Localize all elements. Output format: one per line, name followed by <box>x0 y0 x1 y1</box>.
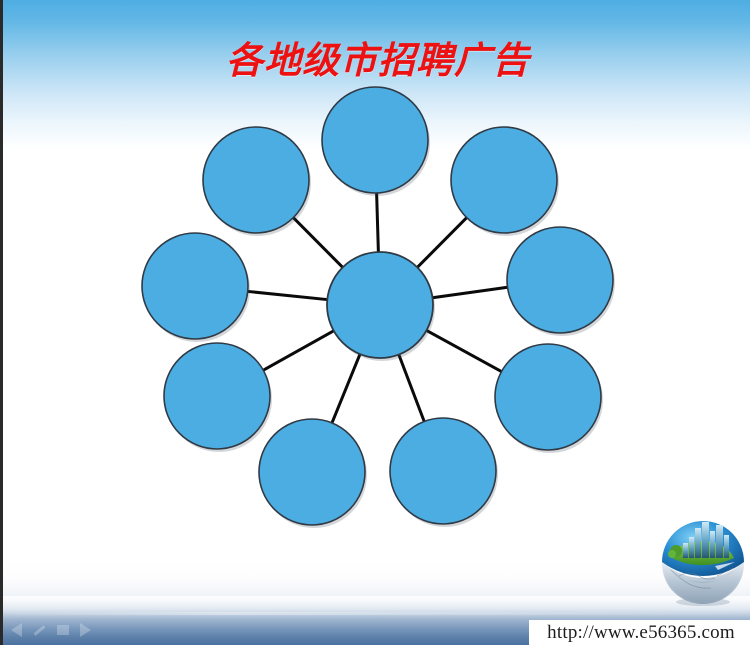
diagram-node-7[interactable] <box>164 343 270 449</box>
spoke-line-6 <box>332 353 361 424</box>
spoke-line-9 <box>293 217 344 268</box>
node-circle-1[interactable] <box>322 87 428 193</box>
diagram-node-8[interactable] <box>142 233 248 339</box>
node-circle-3[interactable] <box>507 227 613 333</box>
diagram-node-9[interactable] <box>203 127 309 233</box>
globe-city-logo <box>655 518 750 606</box>
slideshow-navigation-bar[interactable] <box>11 620 141 640</box>
diagram-node-2[interactable] <box>451 127 557 233</box>
diagram-node-5[interactable] <box>390 418 496 524</box>
node-circle-6[interactable] <box>259 419 365 525</box>
nav-pen-icon[interactable] <box>34 625 46 636</box>
spoke-line-3 <box>432 287 509 298</box>
diagram-node-3[interactable] <box>507 227 613 333</box>
node-circle-8[interactable] <box>142 233 248 339</box>
presentation-slide: 各地级市招聘广告 <box>0 0 750 645</box>
node-circle-7[interactable] <box>164 343 270 449</box>
nav-forward-arrow-icon[interactable] <box>80 623 91 637</box>
diagram-node-6[interactable] <box>259 419 365 525</box>
spoke-line-1 <box>377 192 379 253</box>
spoke-line-4 <box>426 330 503 372</box>
node-circle-9[interactable] <box>203 127 309 233</box>
spoke-line-2 <box>417 217 468 268</box>
diagram-node-4[interactable] <box>495 344 601 450</box>
watermark-url-text: http://www.e56365.com <box>547 622 735 644</box>
watermark-url-box: http://www.e56365.com <box>529 620 750 645</box>
node-circle-4[interactable] <box>495 344 601 450</box>
spoke-line-7 <box>262 330 334 370</box>
node-circles-group <box>142 87 615 528</box>
diagram-node-1[interactable] <box>322 87 428 193</box>
spoke-line-8 <box>247 291 329 299</box>
node-circle-5[interactable] <box>390 418 496 524</box>
hub-and-spoke-diagram <box>3 0 750 645</box>
diagram-hub[interactable] <box>327 252 433 358</box>
hub-circle[interactable] <box>327 252 433 358</box>
spoke-line-5 <box>398 354 424 423</box>
nav-menu-square-icon[interactable] <box>57 625 69 635</box>
nav-back-arrow-icon[interactable] <box>11 623 22 637</box>
node-circle-2[interactable] <box>451 127 557 233</box>
